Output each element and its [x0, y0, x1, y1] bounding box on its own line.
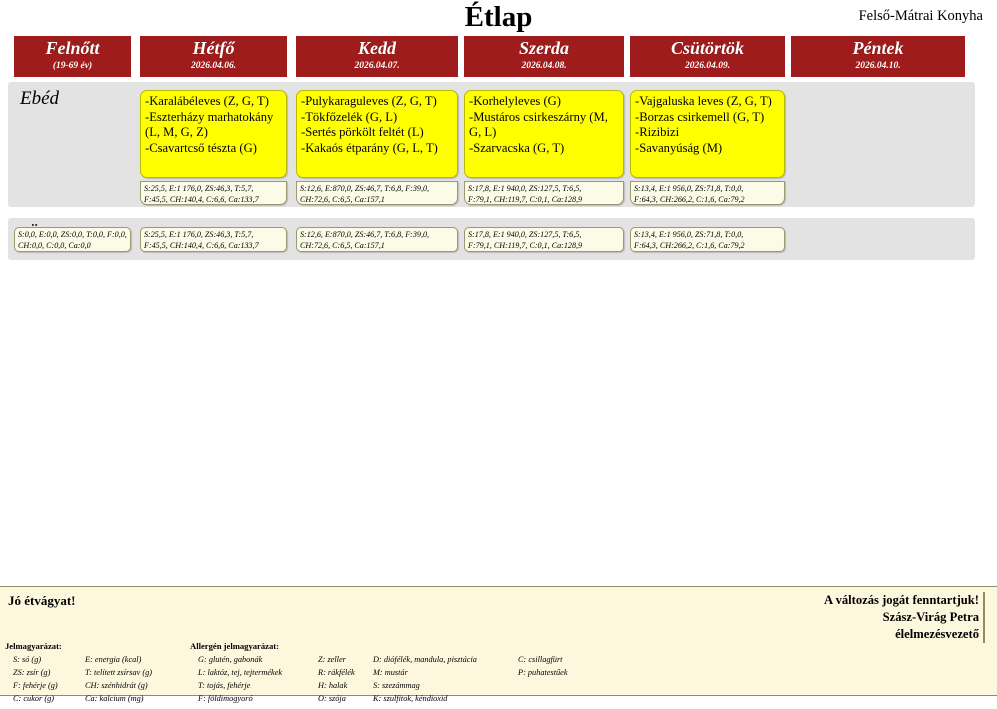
allergen-legend: Allergén jelmagyarázat: G: glutén, gabon… — [190, 641, 750, 709]
day-header-day1: Hétfő2026.04.06. — [140, 36, 287, 77]
allergen-legend-item: K: szulfitok, kéndioxid — [373, 692, 477, 705]
day-header-day5: Péntek2026.04.10. — [791, 36, 965, 77]
dish-item: -Korhelyleves (G) — [469, 94, 619, 110]
allergen-legend-title: Allergén jelmagyarázat: — [190, 641, 750, 651]
dish-item: -Karalábéleves (Z, G, T) — [145, 94, 282, 110]
nutrition-line: F:45,5, CH:140,4, C:6,6, Ca:133,7 — [144, 195, 283, 205]
nutrition-legend-item: C: cukor (g) — [13, 692, 58, 705]
allergen-legend-item: C: csillagfürt — [518, 653, 568, 666]
totals-card: S:25,5, E:1 176,0, ZS:46,3, T:5,7,F:45,5… — [140, 227, 287, 252]
day-header-name: Szerda — [464, 37, 624, 60]
allergen-legend-item: L: laktóz, tej, tejtermékek — [198, 666, 282, 679]
nutrition-legend: Jelmagyarázat: S: só (g)ZS: zsír (g)F: f… — [5, 641, 185, 709]
totals-row: Összesen S:0,0, E:0,0, ZS:0,0, T:0,0, F:… — [8, 218, 975, 260]
allergen-legend-item: S: szezámmag — [373, 679, 477, 692]
totals-line: S:17,8, E:1 940,0, ZS:127,5, T:6,5, — [468, 230, 620, 241]
day-header-day2: Kedd2026.04.07. — [296, 36, 458, 77]
nutrition-legend-item: CH: szénhidrát (g) — [85, 679, 152, 692]
allergen-legend-item: Z: zeller — [318, 653, 355, 666]
allergen-legend-item: O: szója — [318, 692, 355, 705]
nutrition-legend-item: S: só (g) — [13, 653, 58, 666]
nutrition-line: F:79,1, CH:119,7, C:0,1, Ca:128,9 — [468, 195, 620, 205]
totals-line: F:45,5, CH:140,4, C:6,6, Ca:133,7 — [144, 241, 283, 252]
day-header-date: 2026.04.06. — [140, 61, 287, 71]
dish-card: -Karalábéleves (Z, G, T)-Eszterházy marh… — [140, 90, 287, 178]
footer-top-divider — [0, 586, 997, 587]
nutrition-legend-item: Ca: kalcium (mg) — [85, 692, 152, 705]
nutrition-line: S:17,8, E:1 940,0, ZS:127,5, T:6,5, — [468, 184, 620, 195]
allergen-legend-item: F: földimogyoró — [198, 692, 282, 705]
day-header-day3: Szerda2026.04.08. — [464, 36, 624, 77]
dish-item: -Vajgaluska leves (Z, G, T) — [635, 94, 780, 110]
day-header-name: Csütörtök — [630, 37, 785, 60]
day-header-name: Hétfő — [140, 37, 287, 60]
document-header: Étlap Felső-Mátrai Konyha — [0, 0, 997, 34]
nutrition-card: S:17,8, E:1 940,0, ZS:127,5, T:6,5,F:79,… — [464, 181, 624, 205]
totals-line: CH:0,0, C:0,0, Ca:0,0 — [18, 241, 127, 252]
totals-line: S:12,6, E:870,0, ZS:46,7, T:6,8, F:39,0, — [300, 230, 454, 241]
bon-appetit-text: Jó étvágyat! — [8, 593, 76, 609]
totals-card: S:17,8, E:1 940,0, ZS:127,5, T:6,5,F:79,… — [464, 227, 624, 252]
day-header-group: Felnőtt(19-69 év) — [14, 36, 131, 77]
allergen-legend-item: M: mustár — [373, 666, 477, 679]
nutrition-card: S:25,5, E:1 176,0, ZS:46,3, T:5,7,F:45,5… — [140, 181, 287, 205]
document-footer: Jó étvágyat! A változás jogát fenntartju… — [0, 586, 997, 696]
totals-line: S:13,4, E:1 956,0, ZS:71,8, T:0,0, — [634, 230, 781, 241]
kitchen-name: Felső-Mátrai Konyha — [859, 8, 983, 25]
day-header-name: Péntek — [791, 37, 965, 60]
dish-item: -Pulykaraguleves (Z, G, T) — [301, 94, 453, 110]
day-header-date: 2026.04.10. — [791, 61, 965, 71]
nutrition-line: S:12,6, E:870,0, ZS:46,7, T:6,8, F:39,0, — [300, 184, 454, 195]
nutrition-card: S:13,4, E:1 956,0, ZS:71,8, T:0,0,F:64,3… — [630, 181, 785, 205]
allergen-legend-col-3: D: diófélék, mandula, pisztáciaM: mustár… — [373, 653, 477, 705]
nutrition-line: CH:72,6, C:6,5, Ca:157,1 — [300, 195, 454, 205]
nutrition-line: F:64,3, CH:266,2, C:1,6, Ca:79,2 — [634, 195, 781, 205]
notice-line-3: élelmezésvezető — [824, 626, 979, 643]
dish-card: -Vajgaluska leves (Z, G, T)-Borzas csirk… — [630, 90, 785, 178]
allergen-legend-item: G: glutén, gabonák — [198, 653, 282, 666]
meal-row-lunch: Ebéd Húsvét -Karalábéleves (Z, G, T)-Esz… — [8, 82, 975, 207]
totals-line: S:25,5, E:1 176,0, ZS:46,3, T:5,7, — [144, 230, 283, 241]
allergen-legend-item: T: tojás, fehérje — [198, 679, 282, 692]
allergen-legend-item: H: halak — [318, 679, 355, 692]
nutrition-legend-title: Jelmagyarázat: — [5, 641, 185, 651]
day-header-date: 2026.04.07. — [296, 61, 458, 71]
nutrition-legend-item: T: telített zsírsav (g) — [85, 666, 152, 679]
dish-item: -Savanyúság (M) — [635, 141, 780, 157]
meal-row-label: Ebéd — [20, 88, 59, 110]
day-header-row: Felnőtt(19-69 év)Hétfő2026.04.06.Kedd202… — [0, 36, 997, 78]
dish-item: -Sertés pörkölt feltét (L) — [301, 125, 453, 141]
allergen-legend-col-1: G: glutén, gabonákL: laktóz, tej, tejter… — [198, 653, 282, 705]
nutrition-card: S:12,6, E:870,0, ZS:46,7, T:6,8, F:39,0,… — [296, 181, 458, 205]
dish-item: -Mustáros csirkeszárny (M, G, L) — [469, 110, 619, 141]
dish-item: -Eszterházy marhatokány (L, M, G, Z) — [145, 110, 282, 141]
totals-line: CH:72,6, C:6,5, Ca:157,1 — [300, 241, 454, 252]
notice-line-2: Szász-Virág Petra — [824, 609, 979, 626]
page-title: Étlap — [0, 1, 997, 34]
allergen-legend-item: R: rákfélék — [318, 666, 355, 679]
dish-card: -Korhelyleves (G)-Mustáros csirkeszárny … — [464, 90, 624, 178]
nutrition-legend-col-1: S: só (g)ZS: zsír (g)F: fehérje (g)C: cu… — [13, 653, 58, 705]
dish-item: -Kakaós étparány (G, L, T) — [301, 141, 453, 157]
nutrition-legend-item: F: fehérje (g) — [13, 679, 58, 692]
change-notice: A változás jogát fenntartjuk! Szász-Virá… — [824, 592, 985, 643]
dish-item: -Szarvacska (G, T) — [469, 141, 619, 157]
day-header-date: 2026.04.09. — [630, 61, 785, 71]
day-header-name: Kedd — [296, 37, 458, 60]
day-header-day4: Csütörtök2026.04.09. — [630, 36, 785, 77]
day-header-date: 2026.04.08. — [464, 61, 624, 71]
dish-item: -Tökfőzelék (G, L) — [301, 110, 453, 126]
totals-line: F:64,3, CH:266,2, C:1,6, Ca:79,2 — [634, 241, 781, 252]
dish-item: -Borzas csirkemell (G, T) — [635, 110, 780, 126]
dish-card: -Pulykaraguleves (Z, G, T)-Tökfőzelék (G… — [296, 90, 458, 178]
day-header-date: (19-69 év) — [14, 61, 131, 71]
totals-card: S:13,4, E:1 956,0, ZS:71,8, T:0,0,F:64,3… — [630, 227, 785, 252]
nutrition-legend-col-2: E: energia (kcal)T: telített zsírsav (g)… — [85, 653, 152, 705]
allergen-legend-col-4: C: csillagfürtP: puhatestűek — [518, 653, 568, 679]
nutrition-line: S:25,5, E:1 176,0, ZS:46,3, T:5,7, — [144, 184, 283, 195]
allergen-legend-item: P: puhatestűek — [518, 666, 568, 679]
day-header-name: Felnőtt — [14, 37, 131, 60]
notice-line-1: A változás jogát fenntartjuk! — [824, 592, 979, 609]
dish-item: -Rizibizi — [635, 125, 780, 141]
dish-item: -Csavartcső tészta (G) — [145, 141, 282, 157]
nutrition-line: S:13,4, E:1 956,0, ZS:71,8, T:0,0, — [634, 184, 781, 195]
nutrition-legend-item: E: energia (kcal) — [85, 653, 152, 666]
totals-line: S:0,0, E:0,0, ZS:0,0, T:0,0, F:0,0, — [18, 230, 127, 241]
totals-card: S:12,6, E:870,0, ZS:46,7, T:6,8, F:39,0,… — [296, 227, 458, 252]
totals-line: F:79,1, CH:119,7, C:0,1, Ca:128,9 — [468, 241, 620, 252]
nutrition-legend-item: ZS: zsír (g) — [13, 666, 58, 679]
allergen-legend-col-2: Z: zellerR: rákfélékH: halakO: szója — [318, 653, 355, 705]
allergen-legend-item: D: diófélék, mandula, pisztácia — [373, 653, 477, 666]
totals-card: S:0,0, E:0,0, ZS:0,0, T:0,0, F:0,0,CH:0,… — [14, 227, 131, 252]
